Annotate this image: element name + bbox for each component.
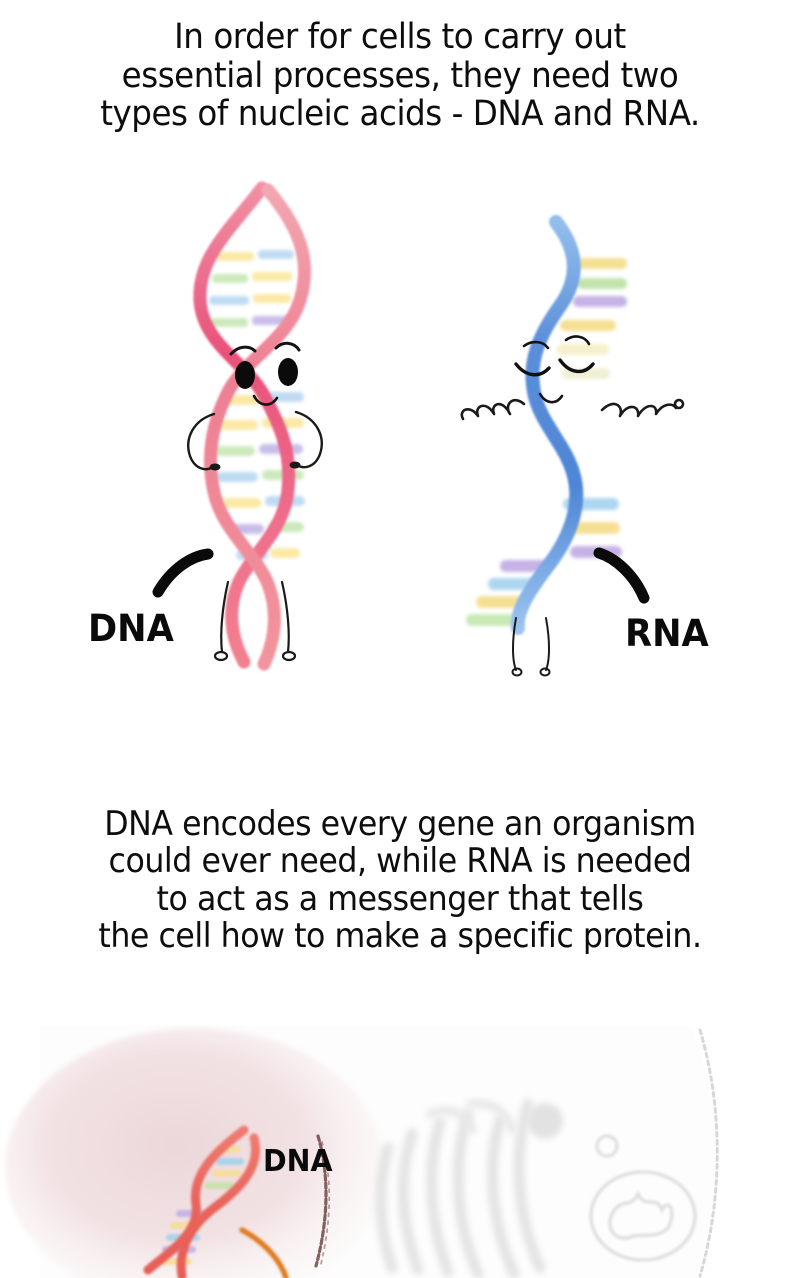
rna-arm-right (602, 404, 676, 416)
function-caption-line-2: could ever need, while RNA is needed (28, 843, 772, 880)
characters-illustration (0, 0, 800, 790)
function-caption-line-3: to act as a messenger that tells (28, 881, 772, 918)
dna-pointer-arc (158, 554, 208, 592)
vesicle-filled (527, 1103, 563, 1139)
rna-arm-left (462, 400, 524, 419)
cell-dna-label: DNA (263, 1144, 333, 1179)
dna-character (188, 188, 321, 664)
function-caption-line-1: DNA encodes every gene an organism (28, 806, 772, 843)
illustration-page: In order for cells to carry out essentia… (0, 0, 800, 1278)
dna-eye-right (278, 358, 298, 386)
dna-eyebrow-right (276, 343, 299, 350)
rna-eyebrow-right (566, 337, 589, 344)
function-caption-line-4: the cell how to make a specific protein. (28, 918, 772, 955)
rna-character-label: RNA (625, 612, 709, 655)
dna-character-label: DNA (88, 607, 174, 650)
function-caption: DNA encodes every gene an organism could… (28, 806, 772, 956)
rna-arms (462, 400, 683, 419)
rna-pointer-arc (599, 553, 644, 598)
dna-eye-left (235, 361, 255, 389)
rna-character (462, 222, 683, 676)
cell-interior-scene (0, 1018, 800, 1278)
